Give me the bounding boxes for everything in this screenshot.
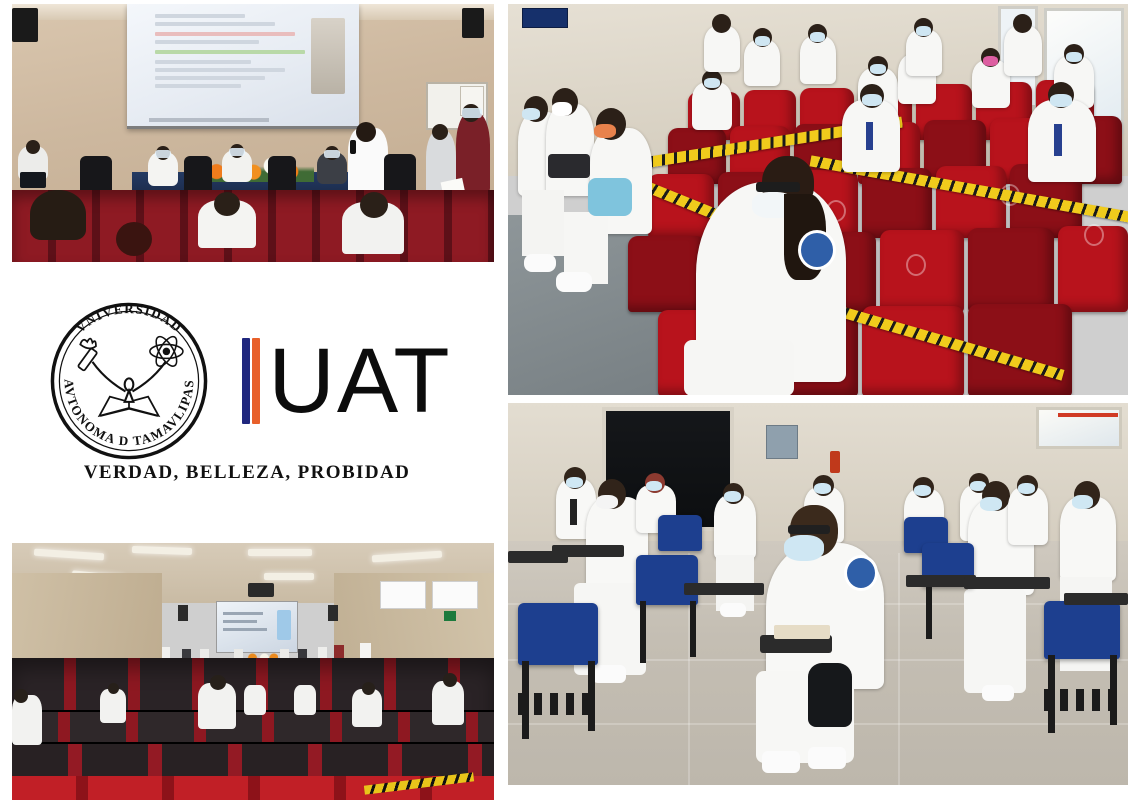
classroom-chair[interactable] [636, 555, 698, 605]
speaker-left-icon [12, 8, 38, 42]
floral-arrangement [198, 156, 314, 182]
photo-bottom-left: Wide rear view of the auditorium with ro… [12, 543, 494, 800]
student [1060, 497, 1116, 581]
uat-banner [380, 581, 426, 609]
photo-bottom-right: Classroom with blue tablet-arm chairs sp… [508, 403, 1128, 785]
university-tagline: VERDAD, BELLEZA, PROBIDAD [0, 462, 494, 484]
chair-basket [518, 693, 598, 715]
window-blind [1058, 413, 1118, 417]
wall-panel [766, 425, 798, 459]
audience-person [244, 685, 266, 715]
shoe [556, 272, 592, 292]
uat-letters: UAT [268, 338, 451, 424]
notebook [774, 625, 830, 639]
face-shield-icon [462, 108, 482, 118]
university-seal: VNIVERSIDAD AVTONOMA D TAMAVLIPAS [42, 294, 216, 468]
classroom-chair[interactable] [1044, 601, 1120, 659]
student-trousers [964, 589, 1026, 693]
audience-person [294, 685, 316, 715]
eyeglasses-icon [756, 182, 800, 192]
microphone-icon [350, 140, 356, 154]
audience-head [116, 222, 152, 256]
student [1004, 26, 1042, 76]
speaker-right-icon [462, 8, 484, 38]
photo-top-right: Medical students in white lab coats seat… [508, 4, 1128, 395]
audience-person [432, 681, 464, 725]
speaker-icon [178, 605, 188, 621]
room-sign [522, 8, 568, 28]
photo-top-left: Auditorium stage with panel of speakers … [12, 4, 494, 262]
face-shield-icon [229, 148, 245, 156]
backpack [808, 663, 852, 727]
wordmark-bar-orange [252, 338, 260, 424]
speaker-icon [328, 605, 338, 621]
classroom-chair[interactable] [518, 603, 598, 665]
slide-image [311, 18, 345, 94]
eyeglasses-icon [788, 525, 830, 534]
coat-emblem [844, 555, 878, 591]
face-shield-icon [155, 150, 171, 158]
classroom-chair[interactable] [658, 515, 702, 551]
bag [548, 154, 590, 178]
projector-icon [248, 583, 274, 597]
student [714, 495, 756, 559]
audience-person [12, 695, 42, 745]
face-shield-icon [324, 150, 340, 158]
necktie [866, 122, 873, 150]
uat-banner [432, 581, 478, 609]
coat-emblem [798, 230, 836, 270]
shoe [524, 254, 556, 272]
collage-canvas: Auditorium stage with panel of speakers … [0, 0, 1140, 800]
necktie [570, 499, 577, 525]
backpack [588, 178, 632, 216]
uat-logo-block: VNIVERSIDAD AVTONOMA D TAMAVLIPAS [0, 262, 494, 540]
student [1028, 100, 1096, 182]
audience-head [30, 190, 86, 240]
fire-extinguisher-icon [830, 451, 840, 473]
projection-screen [127, 4, 359, 129]
student [546, 104, 594, 196]
student-trousers [684, 340, 794, 395]
laptop-icon [20, 172, 46, 188]
chair-basket [1044, 689, 1120, 711]
necktie [1054, 124, 1062, 156]
audience-person [100, 689, 126, 723]
wordmark-bar-blue [242, 338, 250, 424]
student [800, 36, 836, 84]
projection-screen [216, 601, 298, 653]
uat-wordmark: UAT [242, 333, 451, 429]
exit-sign-icon [444, 611, 456, 621]
student-trousers [522, 190, 564, 256]
